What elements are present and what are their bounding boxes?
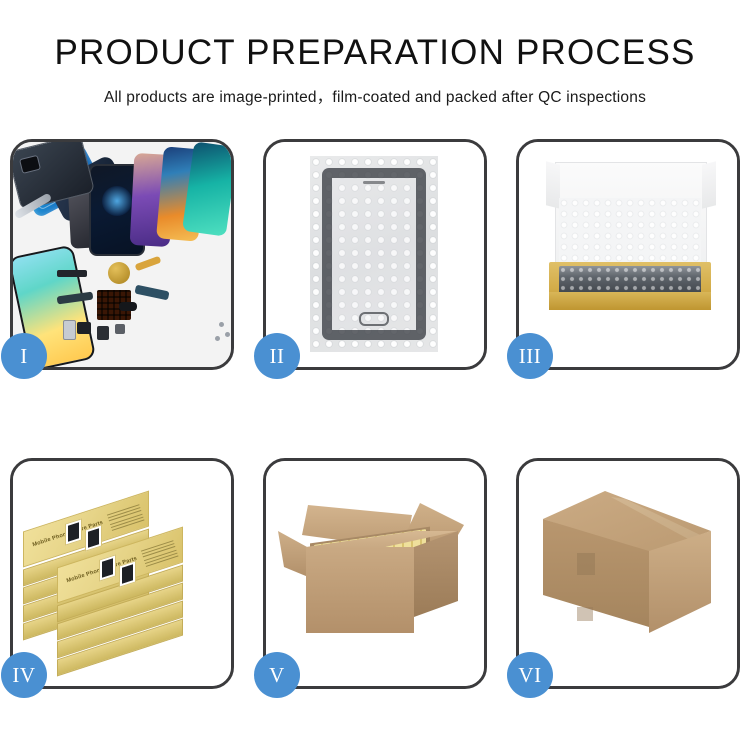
small-part-c: [115, 324, 125, 334]
step-panel-2: II: [263, 139, 487, 370]
process-steps-grid: I II III: [10, 139, 740, 689]
step-5-photo: [266, 461, 484, 686]
product-preparation-infographic: PRODUCT PREPARATION PROCESS All products…: [0, 0, 750, 750]
antenna-bar-part: [57, 270, 87, 277]
step-badge-1: I: [1, 333, 47, 379]
carton-hand-hole-bottom: [577, 607, 593, 621]
home-button: [359, 312, 389, 326]
carton-hand-hole-top: [577, 553, 595, 575]
flex-cable-b: [134, 285, 169, 301]
step-1-photo: [13, 142, 231, 367]
packed-screen: [559, 266, 701, 294]
step-panel-4: Mobile Phone Spare Parts Mobile Phone Sp…: [10, 458, 234, 689]
foam-insert: [559, 198, 701, 264]
flex-cable-c: [135, 256, 162, 271]
sim-tray-part: [63, 320, 76, 340]
step-badge-3: III: [507, 333, 553, 379]
camera-module-part: [119, 302, 137, 311]
page-title: PRODUCT PREPARATION PROCESS: [0, 34, 750, 73]
screw-1: [219, 322, 224, 327]
step-badge-5: V: [254, 652, 300, 698]
wrapped-phone-screen: [322, 168, 426, 340]
step-panel-3: III: [516, 139, 740, 370]
screw-2: [225, 332, 230, 337]
step-badge-6: VI: [507, 652, 553, 698]
screw-3: [215, 336, 220, 341]
step-2-photo: [266, 142, 484, 367]
step-panel-6: VI: [516, 458, 740, 689]
header: PRODUCT PREPARATION PROCESS All products…: [0, 0, 750, 107]
carton-front-face: [306, 547, 414, 633]
page-subtitle: All products are image-printed，film-coat…: [0, 85, 750, 107]
speaker-coil-part: [108, 262, 130, 284]
small-part-a: [77, 322, 91, 334]
step-4-photo: Mobile Phone Spare Parts Mobile Phone Sp…: [13, 461, 231, 686]
small-part-b: [97, 326, 109, 340]
step-badge-2: II: [254, 333, 300, 379]
yellow-box-front: [549, 292, 711, 310]
step-panel-5: V: [263, 458, 487, 689]
step-badge-4: IV: [1, 652, 47, 698]
box-stack: Mobile Phone Spare Parts Mobile Phone Sp…: [21, 475, 221, 671]
earpiece-slot: [363, 181, 385, 184]
step-3-photo: [519, 142, 737, 367]
step-6-photo: [519, 461, 737, 686]
step-panel-1: I: [10, 139, 234, 370]
